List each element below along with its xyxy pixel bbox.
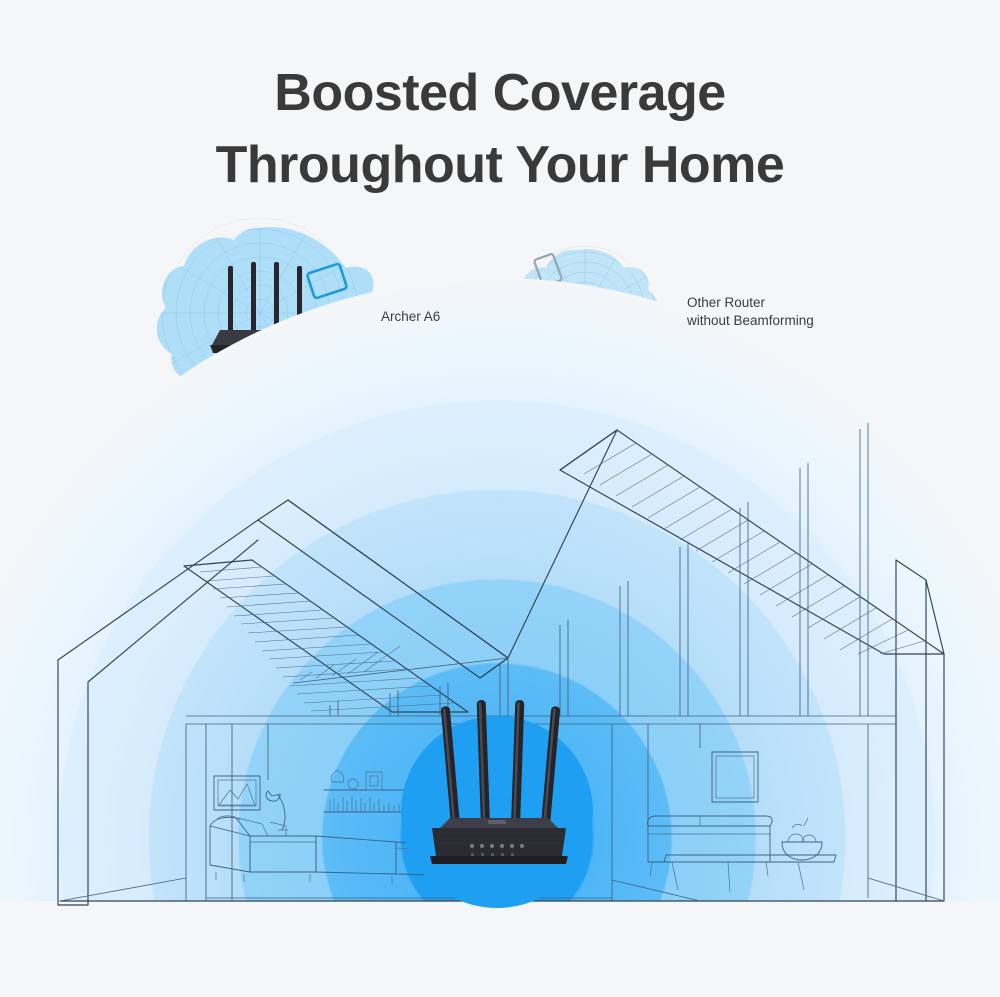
central-router-group [0, 0, 1000, 997]
tp-link-logo [488, 820, 506, 824]
router-core-glow [401, 716, 593, 908]
poster-canvas: Boosted Coverage Throughout Your Home [0, 0, 1000, 997]
label-other-router: Other Router without Beamforming [687, 294, 814, 330]
label-archer-a6: Archer A6 [381, 308, 440, 326]
router-base [430, 856, 568, 864]
router-body [432, 828, 566, 856]
